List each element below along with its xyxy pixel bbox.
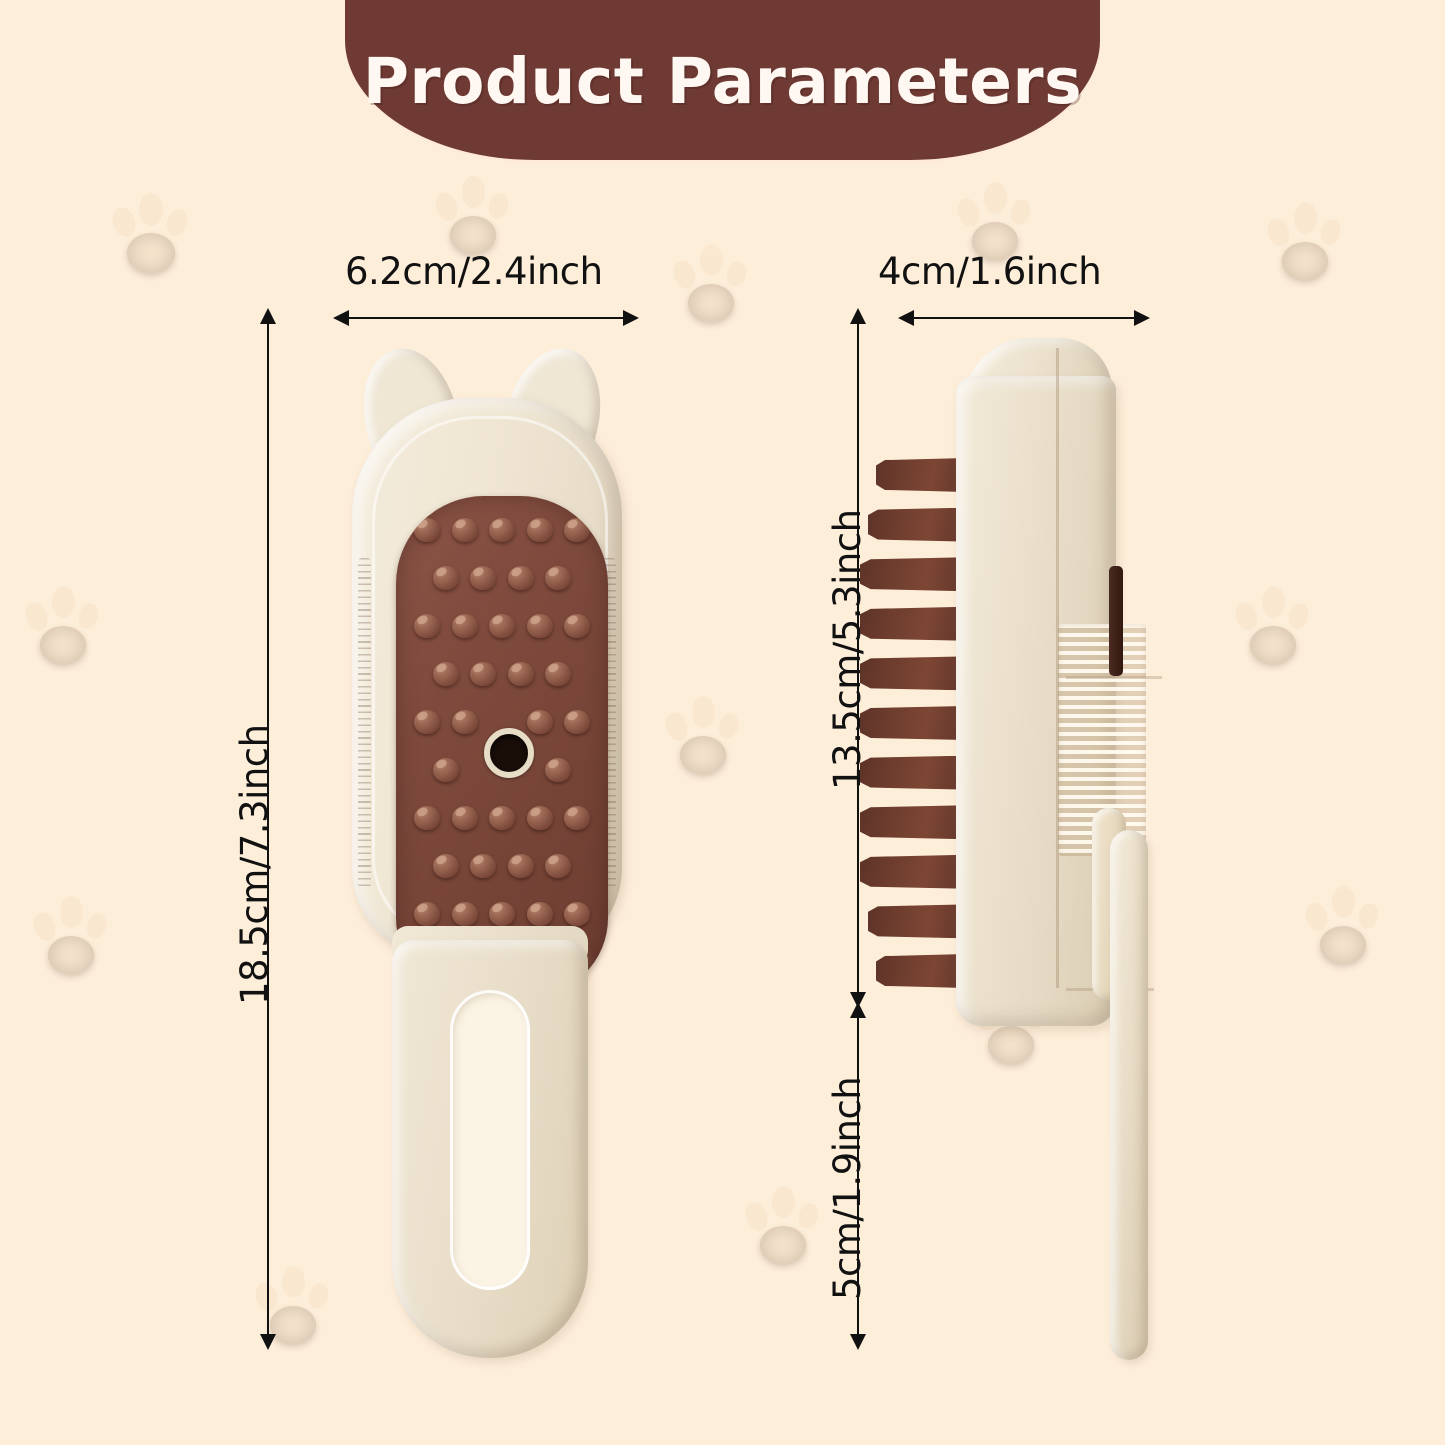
loop-handle xyxy=(392,940,588,1358)
silicone-bristle-pad xyxy=(396,496,608,996)
bristle-nub xyxy=(564,518,590,542)
bristle-nub xyxy=(527,518,553,542)
header-banner: Product Parameters xyxy=(345,0,1100,160)
paw-print-icon xyxy=(20,580,106,670)
handle-opening xyxy=(450,990,530,1290)
bristle-nub xyxy=(433,758,459,782)
bristle-nub xyxy=(470,566,496,590)
product-side-view xyxy=(860,340,1180,1360)
brush-body-front xyxy=(352,398,622,960)
bristle-nub xyxy=(508,854,534,878)
bristle-tuft xyxy=(860,557,966,591)
bristle-nub xyxy=(433,566,459,590)
bristle-nub xyxy=(414,710,440,734)
bristle-nub xyxy=(545,758,571,782)
paw-print-icon xyxy=(1300,880,1386,970)
arrow-head-bottom xyxy=(260,1334,276,1350)
bristle-nub xyxy=(508,566,534,590)
bristle-tuft xyxy=(860,805,966,839)
bristle-nub xyxy=(433,854,459,878)
arrow-shaft xyxy=(340,317,632,319)
bristle-nub xyxy=(489,614,515,638)
side-width-arrow xyxy=(898,310,1150,326)
bristle-tuft xyxy=(860,706,966,740)
bristle-nub xyxy=(433,662,459,686)
bristle-tuft xyxy=(860,656,966,690)
paw-print-icon xyxy=(1230,580,1316,670)
bristle-nub xyxy=(545,662,571,686)
paw-print-icon xyxy=(105,185,195,277)
bristle-nub xyxy=(470,854,496,878)
bristle-tuft xyxy=(876,458,966,492)
bristle-nub xyxy=(564,614,590,638)
product-parameters-page: Product Parameters 6.2cm/2.4inch 18.5cm/… xyxy=(0,0,1445,1445)
bristle-nub xyxy=(470,662,496,686)
arrow-head-right xyxy=(1134,310,1150,326)
bristle-nub xyxy=(564,902,590,926)
bristle-nub xyxy=(452,710,478,734)
bristle-nub xyxy=(527,806,553,830)
paw-print-icon xyxy=(668,238,754,328)
paw-print-icon xyxy=(740,1180,826,1270)
bristle-nub xyxy=(489,806,515,830)
paw-print-icon xyxy=(1262,196,1348,286)
paw-print-icon xyxy=(430,170,516,260)
front-width-arrow xyxy=(333,310,639,326)
bristle-nub xyxy=(489,518,515,542)
product-front-view xyxy=(340,340,660,1360)
front-width-label: 6.2cm/2.4inch xyxy=(345,250,603,293)
arrow-head-right xyxy=(623,310,639,326)
bristle-tuft xyxy=(868,904,966,938)
bristle-nub xyxy=(414,902,440,926)
bristle-nub xyxy=(508,662,534,686)
front-height-arrow xyxy=(260,308,276,1350)
bristle-nub xyxy=(452,614,478,638)
paw-print-icon xyxy=(660,690,746,780)
bristle-tuft xyxy=(860,607,966,641)
paw-print-background xyxy=(0,0,1445,1445)
bristle-nub xyxy=(564,806,590,830)
bristle-nub xyxy=(414,518,440,542)
bristle-tuft xyxy=(876,954,966,988)
bristle-nub xyxy=(489,902,515,926)
arrow-shaft xyxy=(905,317,1143,319)
bristle-tuft xyxy=(860,855,966,889)
bristle-row-side xyxy=(860,458,970,988)
comb-teeth-left xyxy=(358,558,371,888)
bristle-nub xyxy=(414,806,440,830)
arrow-shaft xyxy=(267,315,269,1343)
bristle-nub xyxy=(414,614,440,638)
bristle-nub xyxy=(564,710,590,734)
steam-vent-hole xyxy=(484,728,534,778)
bristle-tuft xyxy=(868,508,966,542)
bristle-nub xyxy=(545,854,571,878)
bristle-nub xyxy=(452,518,478,542)
power-button[interactable] xyxy=(1109,566,1123,676)
folded-handle-side xyxy=(1110,830,1148,1360)
page-title: Product Parameters xyxy=(363,45,1082,160)
body-center-seam xyxy=(1056,348,1059,988)
body-seam-upper xyxy=(1066,676,1162,679)
bristle-nub xyxy=(452,806,478,830)
bristle-nub xyxy=(545,566,571,590)
bristle-nub xyxy=(527,614,553,638)
bristle-nub xyxy=(527,902,553,926)
side-width-label: 4cm/1.6inch xyxy=(878,250,1101,293)
bristle-nub xyxy=(527,710,553,734)
bristle-nub xyxy=(452,902,478,926)
bristle-tuft xyxy=(860,756,966,790)
paw-print-icon xyxy=(28,890,114,980)
